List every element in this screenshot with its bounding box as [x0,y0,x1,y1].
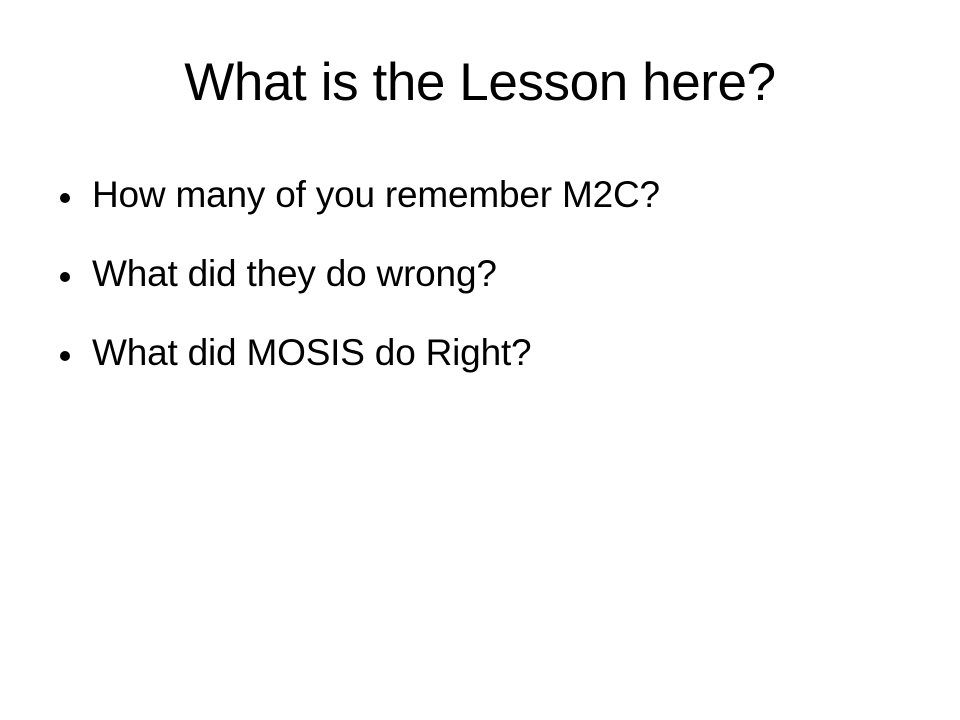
list-item: What did MOSIS do Right? [56,330,906,409]
list-item-label: How many of you remember M2C? [92,172,660,218]
list-item: What did they do wrong? [56,251,906,330]
presentation-slide: What is the Lesson here? How many of you… [0,0,960,720]
bullet-list: How many of you remember M2C? What did t… [56,172,906,409]
list-item-label: What did MOSIS do Right? [92,330,531,376]
list-item: How many of you remember M2C? [56,172,906,251]
bullet-dot-icon [60,351,70,361]
bullet-dot-icon [60,193,70,203]
list-item-label: What did they do wrong? [92,251,497,297]
page-title: What is the Lesson here? [60,52,900,114]
bullet-dot-icon [60,272,70,282]
